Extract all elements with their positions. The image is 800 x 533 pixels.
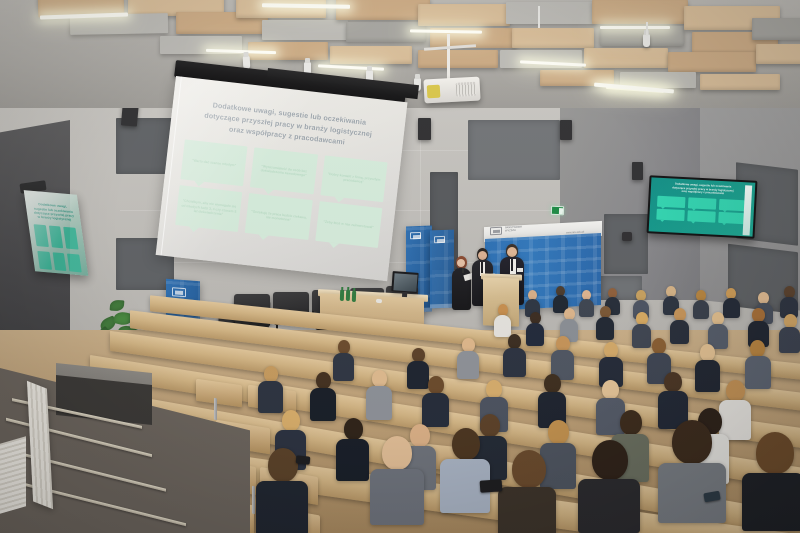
necktie <box>481 262 483 273</box>
acoustic-panel <box>604 214 648 274</box>
banner-logo-icon <box>172 287 186 297</box>
slide-bubble-text: "Chciałbym, aby nie wymagało się od młod… <box>180 199 238 219</box>
tv-bubble-grid <box>657 196 748 225</box>
slide-bubble-text: "Wyrozumiałość do osób bez doświadczenia… <box>255 163 313 178</box>
slide-bubble: "Dobry kontakt z firmą, przyszłym pracod… <box>320 155 387 202</box>
tv-screen: Dodatkowe uwagi, sugestie lub oczekiwani… <box>649 177 756 236</box>
projection-screen: Dodatkowe uwagi, sugestie lub oczekiwani… <box>156 76 408 281</box>
slide-bubble-text: "Żeby ktoś w nas zainwestował" <box>323 219 374 229</box>
wall-mounted-tv: Dodatkowe uwagi, sugestie lub oczekiwani… <box>647 175 758 239</box>
tv-slide-title: Dodatkowe uwagi, sugestie lub oczekiwani… <box>659 182 747 197</box>
slide-bubble-text: "Warto dać szansę młodym" <box>192 158 237 167</box>
wall-camera <box>622 232 632 241</box>
smartphone <box>480 479 503 493</box>
slide-bubble: "Chciałbym, aby nie wymagało się od młod… <box>175 185 242 232</box>
slide-bubble-text: "Oczekuję że praca będzie ciekawa, nie m… <box>250 209 308 224</box>
microphone <box>462 268 464 273</box>
wall-speaker <box>418 118 431 140</box>
monitor-screen <box>393 273 417 292</box>
slide-bubble: "Wyrozumiałość do osób bez doświadczenia… <box>250 147 317 194</box>
tv-bubble <box>687 211 715 223</box>
wall-radiator-lower <box>0 436 26 513</box>
tv-bubble <box>688 198 716 210</box>
ceiling-projector <box>423 77 480 104</box>
tv-bubble <box>719 199 747 211</box>
tv-bubble <box>657 209 685 221</box>
lecture-hall-scene: Dodatkowe uwagi, sugestie lub oczekiwani… <box>0 0 800 533</box>
light-drop-rod <box>538 6 540 28</box>
name-badge <box>517 268 523 272</box>
smartphone <box>296 455 311 464</box>
banner-logo-icon <box>434 236 445 243</box>
rollup-banner-stage-2 <box>430 230 454 309</box>
backdrop-logo-text: PAŃSTWOWA WYŻSZA <box>505 226 522 233</box>
slide-bubble-text: "Dobry kontakt z firmą, przyszłym pracod… <box>325 171 383 186</box>
projector-mount-pole <box>447 34 450 80</box>
water-bottle <box>352 291 356 302</box>
water-bottle <box>346 290 350 301</box>
projector-vent <box>456 82 477 97</box>
wall-speaker <box>632 162 643 180</box>
necktie <box>511 259 513 271</box>
slide-bubble: "Warto dać szansę młodym" <box>180 139 247 186</box>
projector-lens <box>427 85 441 99</box>
slide-bubble-grid: "Warto dać szansę młodym" "Wyrozumiałość… <box>175 139 387 248</box>
emergency-exit-sign <box>551 206 564 215</box>
backdrop-logo-icon <box>490 227 502 236</box>
desk-monitor <box>391 271 418 293</box>
light-drop-rod <box>646 22 648 36</box>
acoustic-panel <box>468 120 560 180</box>
desk-mouse <box>376 299 382 303</box>
tv-screen-glare <box>743 185 753 235</box>
water-bottle <box>340 290 344 301</box>
slide-bubble: "Żeby ktoś w nas zainwestował" <box>315 201 382 248</box>
wall-speaker <box>560 120 572 140</box>
slide-bubble: "Oczekuję że praca będzie ciekawa, nie m… <box>245 193 312 240</box>
seat-support-post <box>252 486 255 515</box>
seat-support-post <box>214 398 217 420</box>
banner-logo-icon <box>410 232 421 239</box>
tv-bubble <box>718 212 746 224</box>
tv-bubble <box>657 196 685 208</box>
banner-footer-band <box>430 304 454 309</box>
